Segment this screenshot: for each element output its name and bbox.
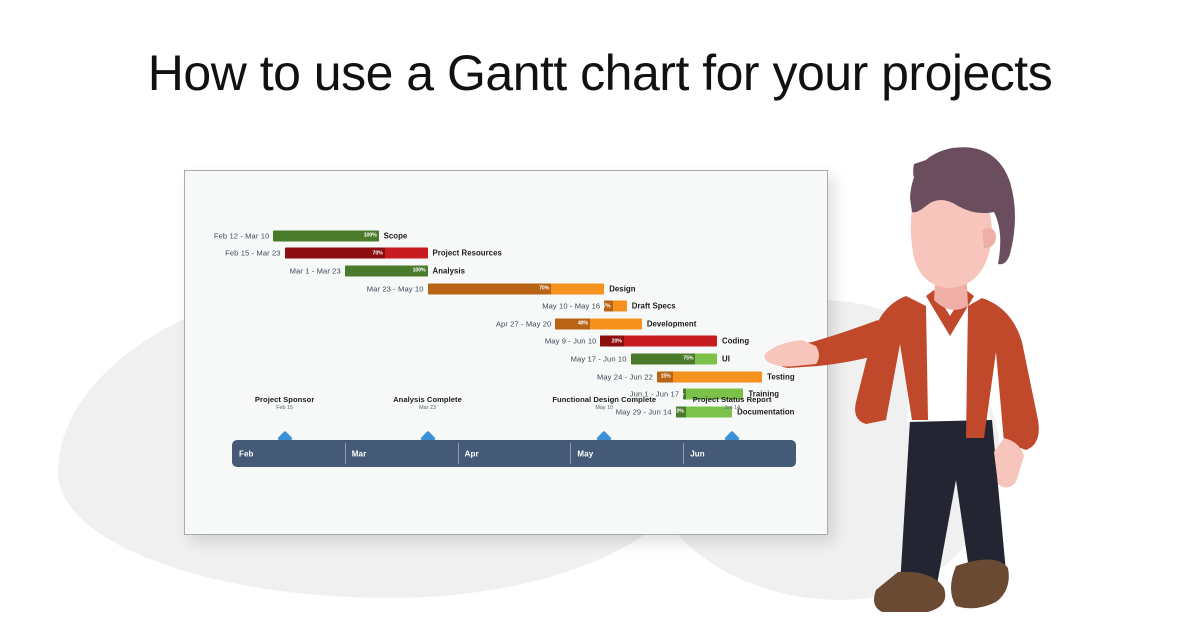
page-title: How to use a Gantt chart for your projec… xyxy=(0,44,1200,102)
task-progress-label: 37% xyxy=(604,303,610,309)
task-bar[interactable]: 100% xyxy=(345,265,428,276)
milestone-label[interactable]: Functional Design CompleteMay 10 xyxy=(552,395,656,411)
task-date-range: May 10 - May 16 xyxy=(542,302,600,311)
task-progress-fill: 75% xyxy=(631,353,696,364)
task-progress-fill: 100% xyxy=(345,265,428,276)
task-progress-fill: 40% xyxy=(555,318,590,329)
timeline-separator xyxy=(458,443,459,464)
task-bar[interactable]: 20% xyxy=(600,336,717,347)
gantt-task-row[interactable]: Mar 23 - May 1070%Design xyxy=(185,280,829,298)
timeline-month-label: May xyxy=(577,449,593,458)
gantt-task-row[interactable]: Apr 27 - May 2040%Development xyxy=(185,315,829,333)
task-name: Analysis xyxy=(433,266,465,275)
timeline-axis: FebMarAprMayJun xyxy=(232,440,796,467)
gantt-chart-card: Feb 12 - Mar 10100%ScopeFeb 15 - Mar 237… xyxy=(184,170,828,535)
task-progress-label: 75% xyxy=(683,356,693,362)
task-bar[interactable]: 70% xyxy=(285,248,428,259)
gantt-task-row[interactable]: May 9 - Jun 1020%Coding xyxy=(185,333,829,351)
task-bar[interactable]: 70% xyxy=(428,283,605,294)
task-progress-label: 0% xyxy=(683,391,684,397)
task-progress-fill: 15% xyxy=(657,371,673,382)
timeline-month-label: Apr xyxy=(465,449,479,458)
task-name: Development xyxy=(647,319,697,328)
gantt-task-row[interactable]: May 10 - May 1637%Draft Specs xyxy=(185,297,829,315)
milestone-title: Project Sponsor xyxy=(255,395,314,404)
milestone-title: Analysis Complete xyxy=(393,395,462,404)
task-progress-label: 100% xyxy=(364,233,377,239)
task-progress-fill: 0% xyxy=(683,389,686,400)
task-name: Design xyxy=(609,284,635,293)
task-bar[interactable]: 100% xyxy=(273,230,378,241)
task-date-range: Feb 15 - Mar 23 xyxy=(225,249,281,258)
task-date-range: May 24 - Jun 22 xyxy=(597,372,653,381)
task-progress-label: 40% xyxy=(578,321,588,327)
gantt-task-row[interactable]: Mar 1 - Mar 23100%Analysis xyxy=(185,262,829,280)
task-progress-fill: 20% xyxy=(600,336,623,347)
task-date-range: Mar 1 - Mar 23 xyxy=(290,266,341,275)
milestone-date: Feb 15 xyxy=(255,405,314,411)
task-progress-label: 20% xyxy=(612,338,622,344)
timeline-separator xyxy=(683,443,684,464)
task-bar[interactable]: 75% xyxy=(631,353,717,364)
task-name: Draft Specs xyxy=(632,302,676,311)
task-progress-fill: 70% xyxy=(428,283,552,294)
gantt-task-rows: Feb 12 - Mar 10100%ScopeFeb 15 - Mar 237… xyxy=(185,227,829,421)
task-name: UI xyxy=(722,354,730,363)
task-name: Scope xyxy=(384,231,408,240)
timeline-month-label: Jun xyxy=(690,449,705,458)
timeline-month-label: Mar xyxy=(352,449,367,458)
task-progress-label: 70% xyxy=(373,250,383,256)
task-bar[interactable]: 15% xyxy=(657,371,762,382)
illustration-person xyxy=(760,120,1100,620)
timeline-separator xyxy=(345,443,346,464)
task-bar[interactable]: 37% xyxy=(604,301,627,312)
task-progress-fill: 100% xyxy=(273,230,378,241)
task-name: Coding xyxy=(722,337,749,346)
task-progress-label: 70% xyxy=(539,286,549,292)
task-progress-label: 10% xyxy=(676,409,684,415)
task-progress-fill: 10% xyxy=(676,406,686,417)
task-progress-label: 100% xyxy=(413,268,426,274)
task-date-range: May 9 - Jun 10 xyxy=(545,337,597,346)
milestone-label[interactable]: Analysis CompleteMar 23 xyxy=(393,395,462,411)
milestone-label[interactable]: Project SponsorFeb 15 xyxy=(255,395,314,411)
gantt-task-row[interactable]: May 17 - Jun 1075%UI xyxy=(185,350,829,368)
milestone-title: Functional Design Complete xyxy=(552,395,656,404)
milestone-date: May 10 xyxy=(552,405,656,411)
task-progress-fill: 37% xyxy=(604,301,612,312)
gantt-task-row[interactable]: May 24 - Jun 2215%Testing xyxy=(185,368,829,386)
task-progress-fill: 70% xyxy=(285,248,385,259)
task-date-range: May 17 - Jun 10 xyxy=(571,354,627,363)
timeline-separator xyxy=(570,443,571,464)
task-name: Project Resources xyxy=(433,249,502,258)
gantt-task-row[interactable]: Feb 12 - Mar 10100%Scope xyxy=(185,227,829,245)
task-date-range: Feb 12 - Mar 10 xyxy=(214,231,270,240)
task-date-range: Mar 23 - May 10 xyxy=(367,284,424,293)
task-date-range: Apr 27 - May 20 xyxy=(496,319,552,328)
task-progress-label: 15% xyxy=(661,374,671,380)
timeline-month-label: Feb xyxy=(239,449,254,458)
milestone-date: Mar 23 xyxy=(393,405,462,411)
gantt-task-row[interactable]: Feb 15 - Mar 2370%Project Resources xyxy=(185,245,829,263)
task-bar[interactable]: 40% xyxy=(555,318,641,329)
